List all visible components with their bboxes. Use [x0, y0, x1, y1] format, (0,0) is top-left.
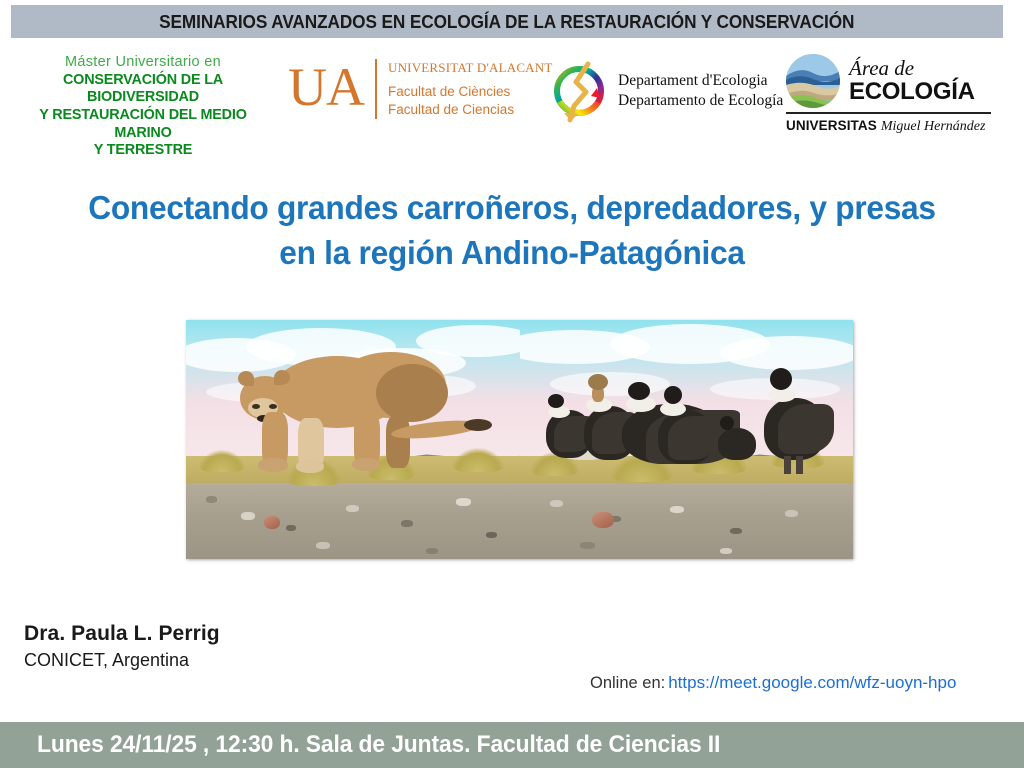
- logo-master-biodiversidad: Máster Universitario en CONSERVACIÓN DE …: [8, 55, 278, 159]
- gravel-stone: [730, 528, 742, 534]
- event-datetime-text: Lunes 24/11/25 , 12:30 h. Sala de Juntas…: [0, 731, 720, 759]
- gravel-stone: [316, 542, 330, 549]
- landscape-circle-icon: [786, 54, 840, 108]
- area-logo-words: Área de ECOLOGÍA: [840, 58, 975, 104]
- puma-paw: [352, 458, 380, 471]
- logo-departament-ecologia: Departament d'Ecologia Departamento de E…: [548, 56, 783, 126]
- photo-collage: [186, 320, 853, 559]
- gravel-stone: [456, 498, 471, 506]
- talk-title-line-1: Conectando grandes carroñeros, depredado…: [20, 186, 1003, 231]
- seminar-series-title: SEMINARIOS AVANZADOS EN ECOLOGÍA DE LA R…: [159, 11, 854, 33]
- meeting-link[interactable]: https://meet.google.com/wfz-uoyn-hpo: [665, 673, 956, 692]
- gravel-stone: [670, 506, 684, 513]
- logo-universitat-alacant: UA UNIVERSITAT D'ALACANT Facultat de Ciè…: [288, 56, 553, 122]
- puma-eye: [269, 404, 277, 409]
- condors-photo: [520, 320, 853, 559]
- area-logo-bottom-row: UNIVERSITASMiguel Hernández: [786, 117, 996, 135]
- master-logo-line-1: Máster Universitario en: [8, 55, 278, 70]
- gravel-stone: [286, 525, 296, 531]
- master-logo-line-4: Y TERRESTRE: [13, 141, 272, 159]
- talk-title: Conectando grandes carroñeros, depredado…: [0, 186, 1024, 276]
- puma-photo: [186, 320, 520, 559]
- dept-text-block: Departament d'Ecologia Departamento de E…: [610, 71, 783, 112]
- online-meeting-block: Online en:https://meet.google.com/wfz-uo…: [590, 673, 956, 693]
- gravel-stone: [206, 496, 217, 503]
- grass-tuft: [451, 448, 505, 472]
- gravel-stone: [486, 532, 497, 538]
- event-datetime-bar: Lunes 24/11/25 , 12:30 h. Sala de Juntas…: [0, 722, 1024, 768]
- area-logo-divider: [786, 112, 991, 114]
- gravel-stone: [401, 520, 413, 527]
- puma-paw: [296, 460, 324, 473]
- speaker-name: Dra. Paula L. Perrig: [24, 622, 220, 646]
- gravel-stone: [550, 500, 563, 507]
- gravel-stone: [580, 542, 595, 549]
- area-logo-line-1: Área de: [849, 58, 975, 79]
- puma-ear: [274, 370, 290, 385]
- grass-tuft: [198, 450, 246, 472]
- master-logo-line-3: Y RESTAURACIÓN DEL MEDIO MARINO: [13, 106, 272, 141]
- red-rock: [264, 516, 280, 529]
- condor: [756, 364, 836, 472]
- condor: [652, 378, 722, 468]
- gravel-ground: [186, 483, 520, 559]
- rainbow-circle-arrows-icon: [548, 58, 610, 124]
- ua-text-block: UNIVERSITAT D'ALACANT Facultat de Ciènci…: [377, 56, 553, 122]
- seminar-series-header-bar: SEMINARIOS AVANZADOS EN ECOLOGÍA DE LA R…: [11, 5, 1003, 38]
- speaker-block: Dra. Paula L. Perrig CONICET, Argentina: [24, 622, 220, 671]
- logo-strip: Máster Universitario en CONSERVACIÓN DE …: [0, 44, 1024, 144]
- dept-logo-line-2: Departamento de Ecología: [618, 91, 783, 111]
- dept-logo-line-1: Departament d'Ecologia: [618, 71, 783, 91]
- gravel-stone: [346, 505, 359, 512]
- gravel-stone: [720, 548, 732, 554]
- talk-title-line-2: en la región Andino-Patagónica: [20, 231, 1003, 276]
- area-logo-line-2: ECOLOGÍA: [849, 80, 975, 104]
- condor-leg: [796, 456, 803, 474]
- puma-ear: [238, 371, 254, 386]
- condor: [714, 416, 758, 464]
- ua-logo-line-1: UNIVERSITAT D'ALACANT: [388, 60, 553, 76]
- speaker-affiliation: CONICET, Argentina: [24, 650, 220, 671]
- master-logo-line-2: CONSERVACIÓN DE LA BIODIVERSIDAD: [13, 71, 272, 106]
- red-rock: [592, 512, 614, 528]
- online-label: Online en:: [590, 674, 665, 692]
- area-logo-line-4: Miguel Hernández: [877, 119, 986, 134]
- gravel-stone: [785, 510, 798, 517]
- ua-monogram-icon: UA: [288, 56, 375, 122]
- ua-logo-line-3: Facultad de Ciencias: [388, 101, 553, 119]
- condor-leg: [784, 456, 791, 474]
- logo-area-ecologia-umh: Área de ECOLOGÍA UNIVERSITASMiguel Herná…: [786, 54, 996, 135]
- gravel-ground: [520, 483, 853, 559]
- puma-paw: [258, 458, 288, 472]
- area-logo-line-3: UNIVERSITAS: [786, 118, 877, 133]
- ua-logo-line-2: Facultat de Ciències: [388, 83, 553, 101]
- puma-eye: [252, 404, 260, 409]
- gravel-stone: [426, 548, 438, 554]
- puma-tail-tip: [464, 419, 492, 431]
- area-logo-top-row: Área de ECOLOGÍA: [786, 54, 996, 108]
- gravel-stone: [241, 512, 255, 520]
